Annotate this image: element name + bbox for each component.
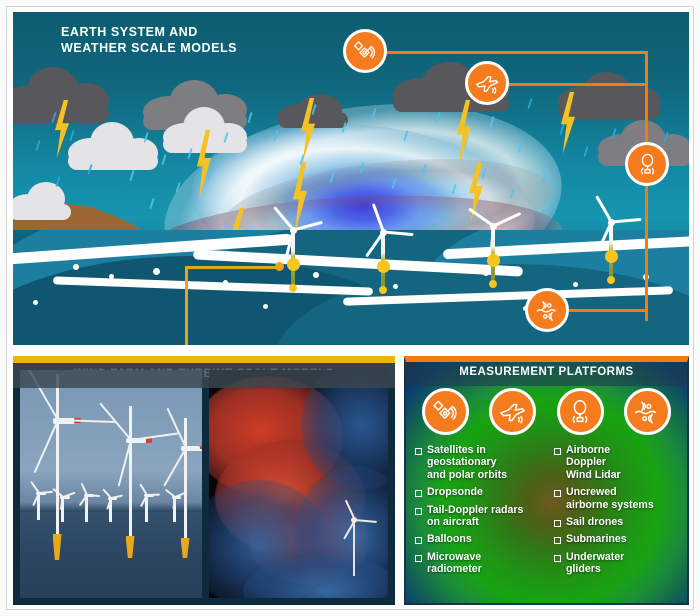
photo-turbine-large-2 [116,406,144,552]
wake-turbine-silhouette [337,518,371,580]
scene-turbine-1 [275,202,311,312]
infographic-root: EARTH SYSTEM AND WEATHER SCALE MODELS [0,0,700,616]
wind-farm-panel: WIND FARM AND TURBINE SCALE MODELS [13,356,395,605]
connector-aircraft [487,83,647,86]
list-item: Uncrewed airborne systems [553,486,684,511]
photo-turbine-large-3 [172,418,198,554]
balloon-icon [565,397,595,427]
badge-satellite-panel[interactable] [422,388,469,435]
underwater-sensor-icon [632,397,662,427]
list-item: Dropsonde [414,486,545,498]
aircraft-icon [474,70,501,97]
badge-aircraft-top[interactable] [465,61,509,105]
aircraft-icon [498,397,528,427]
connector-windfarm-dot [275,262,284,271]
bullet-icon [415,555,422,562]
badge-aircraft-panel[interactable] [489,388,536,435]
ocean-waves [13,230,689,345]
scene-turbine-3 [475,198,511,308]
bullet-icon [415,448,422,455]
infographic-frame: EARTH SYSTEM AND WEATHER SCALE MODELS [6,6,694,610]
offshore-wind-farm-photo [20,370,202,598]
connector-windfarm-horizontal [185,266,281,269]
measurement-icon-row [406,388,687,435]
connector-vertical-right [645,51,648,321]
scene-turbine-2 [365,204,401,314]
badge-underwater-panel[interactable] [624,388,671,435]
list-item: Submarines [553,533,684,545]
list-item: Satellites in geostationary and polar or… [414,444,545,481]
measurement-list-left: Satellites in geostationary and polar or… [414,444,545,581]
bullet-icon [554,490,561,497]
list-item: Microwave radiometer [414,551,545,576]
list-item: Airborne Doppler Wind Lidar [553,444,684,481]
list-item: Sail drones [553,516,684,528]
measurement-platforms-title: MEASUREMENT PLATFORMS [406,366,687,378]
underwater-sensor-icon [534,297,561,324]
list-item: Balloons [414,533,545,545]
scene-turbine-4 [593,194,629,304]
bullet-icon [554,448,561,455]
measurement-platforms-panel: MEASUREMENT PLATFORMS [404,356,689,605]
badge-satellite-top[interactable] [343,29,387,73]
satellite-icon [431,397,461,427]
measurement-list-right: Airborne Doppler Wind Lidar Uncrewed air… [553,444,684,581]
balloon-icon [634,151,661,178]
bullet-icon [554,555,561,562]
measurement-lists: Satellites in geostationary and polar or… [414,444,684,581]
bullet-icon [554,537,561,544]
photo-turbine-large-1 [42,374,72,550]
earth-system-title: EARTH SYSTEM AND WEATHER SCALE MODELS [61,24,237,56]
badge-balloon-top[interactable] [625,142,669,186]
bullet-icon [415,537,422,544]
earth-system-panel: EARTH SYSTEM AND WEATHER SCALE MODELS [13,12,689,345]
satellite-icon [352,38,379,65]
bullet-icon [554,520,561,527]
connector-windfarm-vertical [185,266,188,345]
connector-satellite [365,51,647,54]
bullet-icon [415,490,422,497]
badge-underwater-top[interactable] [525,288,569,332]
turbine-wake-simulation [209,370,388,598]
list-item: Tail-Doppler radars on aircraft [414,504,545,529]
wind-farm-header-bar [13,363,395,388]
list-item: Underwater gliders [553,551,684,576]
badge-balloon-panel[interactable] [557,388,604,435]
bullet-icon [415,508,422,515]
